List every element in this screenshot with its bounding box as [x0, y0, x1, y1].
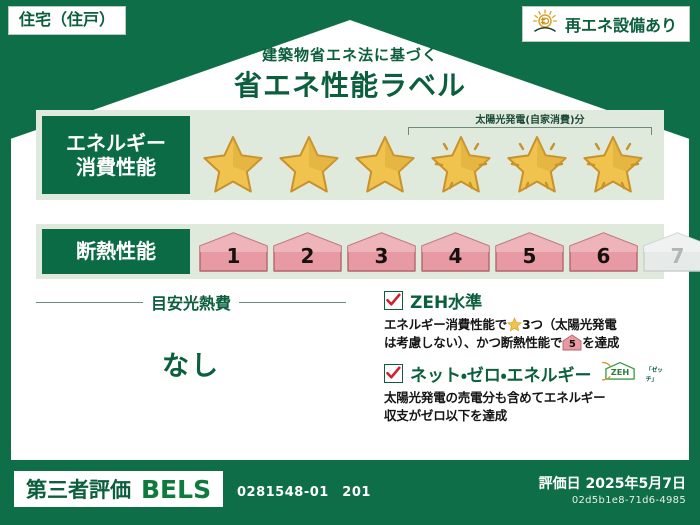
- net-zero-header: ネット・ゼロ・エネルギー ZEH 「ゼッチ」: [384, 361, 668, 386]
- utility-cost-value: なし: [36, 344, 346, 383]
- energy-consumption-label: エネルギー 消費性能: [42, 116, 190, 194]
- zeh-section: ZEH水準 エネルギー消費性能で3つ（太陽光発電 は考慮しない）、かつ断熱性能で…: [384, 288, 668, 435]
- utility-cost-header: 目安光熱費: [36, 290, 346, 314]
- insulation-label-text: 断熱性能: [42, 239, 190, 263]
- star-6: [576, 130, 650, 196]
- net-zero-title: ネット・ゼロ・エネルギー: [410, 361, 592, 386]
- energy-consumption-value: 太陽光発電(自家消費)分: [190, 110, 664, 200]
- inline-insulation-badge: 5: [562, 334, 582, 351]
- solar-sun-icon: [531, 9, 559, 39]
- zeh-standard-item: ZEH水準 エネルギー消費性能で3つ（太陽光発電 は考慮しない）、かつ断熱性能で…: [384, 288, 668, 352]
- zeh-desc-part2: 3つ（太陽光発電: [522, 317, 617, 332]
- zeh-desc-part4: を達成: [582, 335, 619, 350]
- insulation-badge-1: 1: [198, 231, 269, 273]
- net-zero-description: 太陽光発電の売電分も含めてエネルギー 収支がゼロ以下を達成: [384, 389, 668, 425]
- star-1: [196, 130, 270, 196]
- insulation-badge-value: 2: [301, 246, 315, 273]
- insulation-badge-2: 2: [272, 231, 343, 273]
- footer-bar: 第三者評価 BELS 0281548-01 201 評価日 2025年5月7日 …: [0, 463, 700, 525]
- zeh-desc-part1: エネルギー消費性能で: [384, 317, 507, 332]
- star-4: [424, 130, 498, 196]
- evaluation-date-value: 2025年5月7日: [586, 476, 686, 492]
- bels-label: BELS: [141, 475, 211, 504]
- insulation-badge-value: 5: [523, 246, 537, 273]
- insulation-badge-value: 7: [671, 246, 685, 273]
- net-zero-energy-item: ネット・ゼロ・エネルギー ZEH 「ゼッチ」 太陽光発電の売電分も含めてエネルギ…: [384, 361, 668, 425]
- star-5: [500, 130, 574, 196]
- insulation-badge-value: 3: [375, 246, 389, 273]
- insulation-badge-value: 4: [449, 246, 463, 273]
- insulation-badge-6: 6: [568, 231, 639, 273]
- utility-cost-block: 目安光熱費 なし: [36, 290, 346, 383]
- bels-registration-number: 0281548-01 201: [237, 481, 371, 500]
- insulation-value: 1234567: [190, 224, 664, 279]
- solar-bracket-label: 太陽光発電(自家消費)分: [404, 111, 656, 126]
- insulation-badge-7: 7: [642, 231, 700, 273]
- rule-left: [36, 302, 143, 303]
- renewable-energy-badge: 再エネ設備あり: [522, 6, 690, 42]
- category-tag: 住宅（住戸）: [8, 6, 126, 35]
- energy-consumption-row: エネルギー 消費性能 太陽光発電(自家消費)分: [36, 110, 664, 200]
- zeh-desc-part3: は考慮しない）、かつ断熱性能で: [384, 335, 562, 350]
- renewable-badge-label: 再エネ設備あり: [565, 12, 677, 36]
- energy-label-line2: 消費性能: [42, 155, 190, 179]
- utility-cost-title: 目安光熱費: [151, 290, 231, 314]
- star-2: [272, 130, 346, 196]
- insulation-performance-row: 断熱性能 1234567: [36, 224, 664, 279]
- inline-star-icon: [507, 317, 522, 332]
- insulation-badge-value: 6: [597, 246, 611, 273]
- document-id: 02d5b1e8-71d6-4985: [572, 495, 686, 506]
- net-zero-desc-part2: 収支がゼロ以下を達成: [384, 408, 507, 423]
- evaluation-date-label: 評価日: [539, 476, 581, 492]
- title-subtitle: 建築物省エネ法に基づく: [0, 44, 700, 65]
- inline-badge-value: 5: [562, 340, 582, 350]
- insulation-label: 断熱性能: [42, 229, 190, 274]
- checkbox-zeh-standard[interactable]: [384, 291, 403, 310]
- insulation-badge-5: 5: [494, 231, 565, 273]
- svg-text:ZEH: ZEH: [610, 367, 629, 377]
- star-3: [348, 130, 422, 196]
- insulation-badge-value: 1: [227, 246, 241, 273]
- zeh-logo-reading: 「ゼッチ」: [646, 365, 668, 383]
- energy-label-line1: エネルギー: [42, 131, 190, 155]
- insulation-badge-4: 4: [420, 231, 491, 273]
- insulation-grade-badges: 1234567: [198, 231, 660, 273]
- energy-star-rating: [196, 130, 660, 196]
- zeh-house-logo-icon: ZEH: [602, 361, 638, 386]
- zeh-standard-title: ZEH水準: [410, 288, 482, 313]
- bels-logo-block: 第三者評価 BELS: [14, 471, 223, 507]
- third-party-label: 第三者評価: [26, 474, 131, 504]
- energy-performance-label: 住宅（住戸） 再エネ設備あり 建築物省エネ法に基づく 省エネ性能: [0, 0, 700, 525]
- title-main: 省エネ性能ラベル: [0, 64, 700, 104]
- checkbox-net-zero-energy[interactable]: [384, 364, 403, 383]
- zeh-standard-header: ZEH水準: [384, 288, 668, 313]
- zeh-standard-description: エネルギー消費性能で3つ（太陽光発電 は考慮しない）、かつ断熱性能で5を達成: [384, 316, 668, 352]
- insulation-badge-3: 3: [346, 231, 417, 273]
- rule-right: [239, 302, 346, 303]
- net-zero-desc-part1: 太陽光発電の売電分も含めてエネルギー: [384, 390, 605, 405]
- evaluation-date: 評価日 2025年5月7日: [539, 473, 686, 493]
